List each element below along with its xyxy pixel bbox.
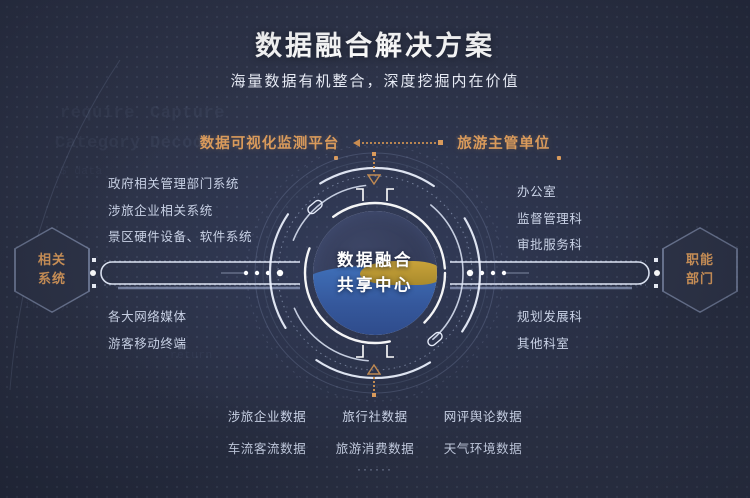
grid-cell: 涉旅企业数据 [213, 406, 321, 425]
grid-cell: 天气环境数据 [429, 438, 537, 457]
page-title: 数据融合解决方案 [0, 24, 750, 63]
triangle-up-icon [367, 364, 381, 375]
bottom-row-1: 涉旅企业数据 旅行社数据 网评舆论数据 [213, 406, 537, 425]
page-subtitle: 海量数据有机整合，深度挖掘内在价值 [0, 70, 750, 91]
list-item: 游客移动终端 [108, 338, 187, 351]
grid-cell: 车流客流数据 [213, 438, 321, 457]
triangle-down-icon [367, 174, 381, 185]
bottom-row-2: 车流客流数据 旅游消费数据 天气环境数据 [213, 438, 537, 457]
center-hub: 数据融合 共享中心 [275, 173, 475, 373]
arrow-down-marker [367, 152, 381, 185]
bottom-ellipsis: ······ [0, 462, 750, 476]
grid-cell: 旅游消费数据 [321, 438, 429, 457]
infographic-canvas: require Capture Category Decode $ data i… [0, 0, 750, 498]
arrow-up-marker [367, 364, 381, 397]
tick-marker-right [557, 156, 561, 160]
list-item: 各大网络媒体 [108, 311, 187, 324]
center-hub-label: 数据融合 共享中心 [337, 248, 413, 298]
grid-cell: 旅行社数据 [321, 406, 429, 425]
grid-cell: 网评舆论数据 [429, 406, 537, 425]
bottom-data-grid: 涉旅企业数据 旅行社数据 网评舆论数据 车流客流数据 旅游消费数据 天气环境数据 [0, 406, 750, 457]
center-line1: 数据融合 [337, 248, 413, 273]
left-source-list-bottom: 各大网络媒体 游客移动终端 [108, 311, 187, 364]
center-line2: 共享中心 [337, 273, 413, 298]
